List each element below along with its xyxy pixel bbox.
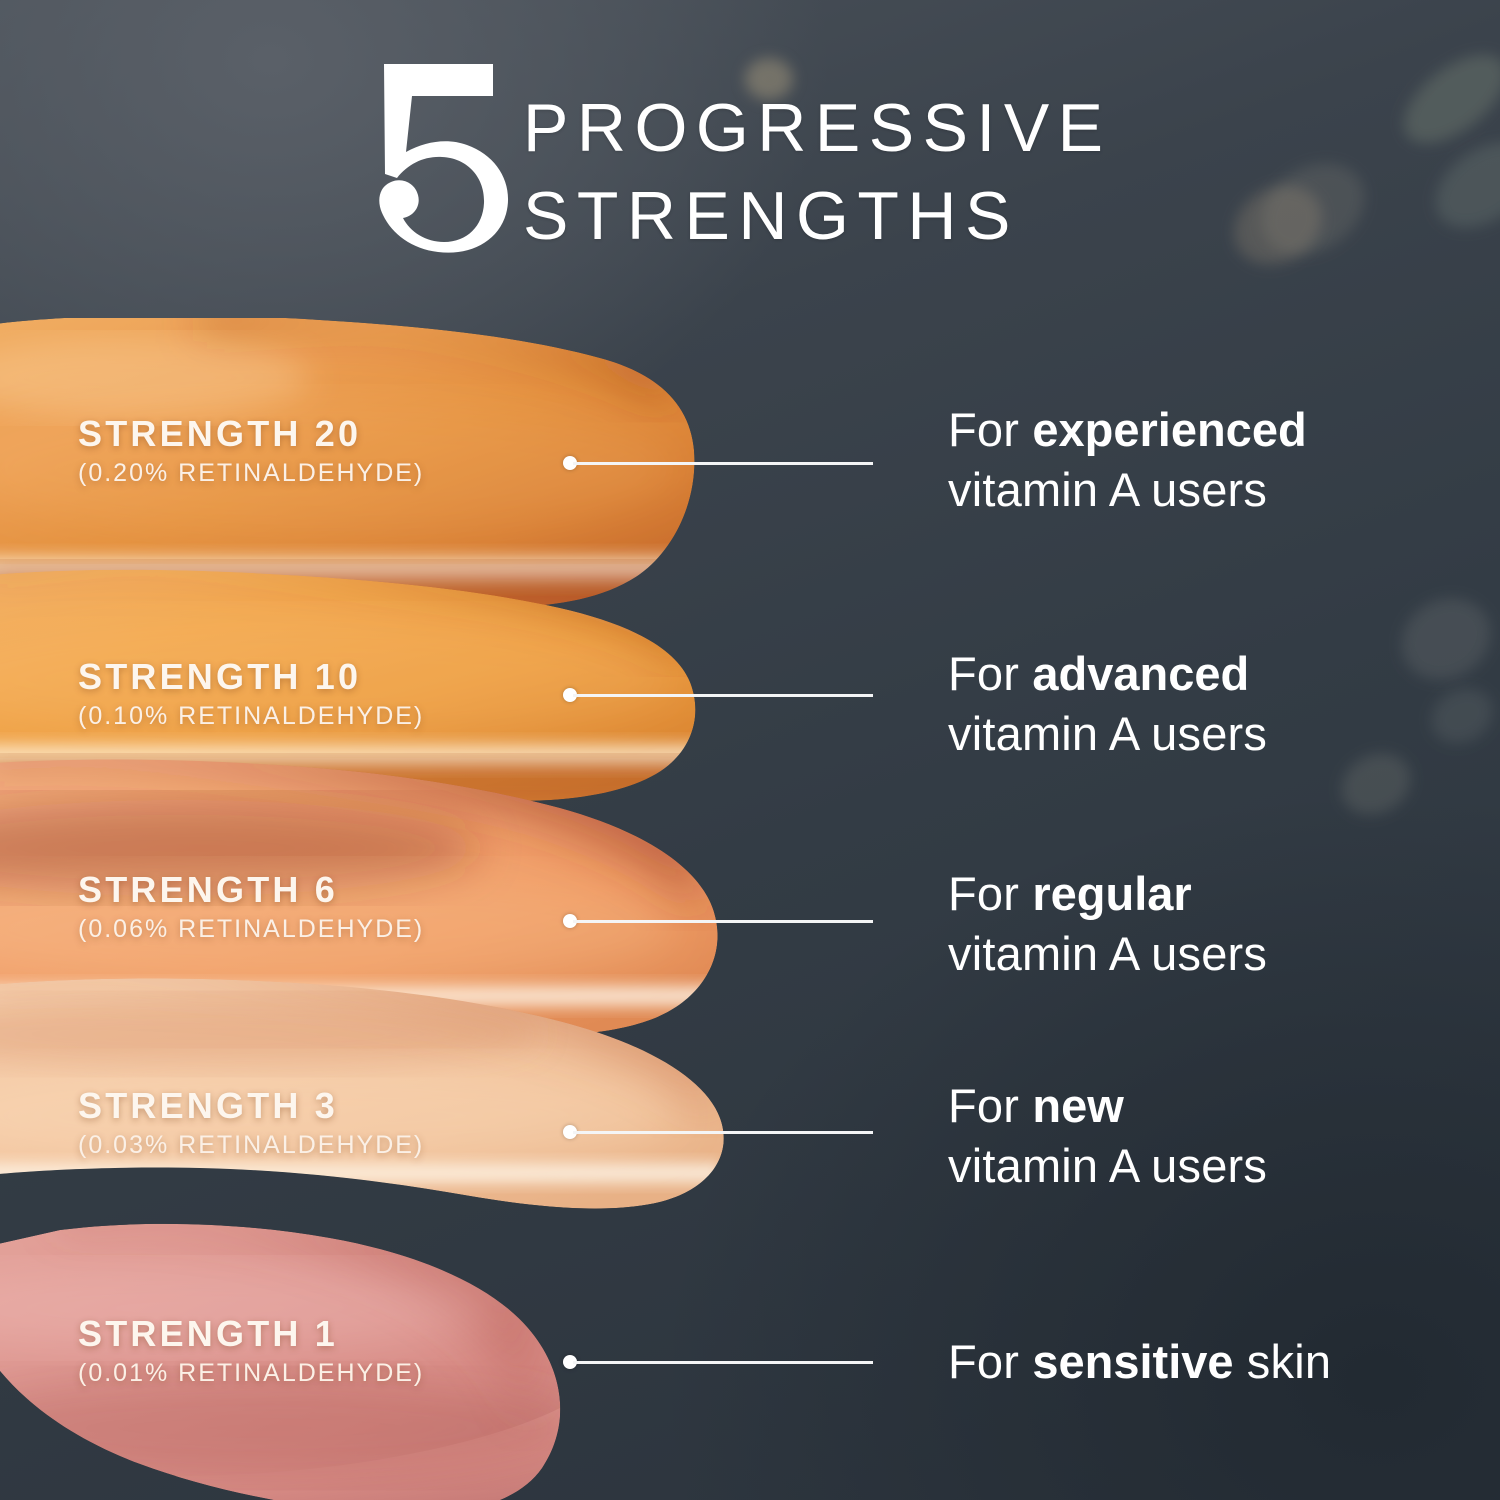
- description-strength-6: For regular vitamin A users: [948, 864, 1267, 984]
- page-title: PROGRESSIVE STRENGTHS: [523, 84, 1112, 260]
- desc-emphasis: sensitive: [1032, 1335, 1233, 1388]
- swatch-label-strength-1: STRENGTH 1 (0.01% RETINALDEHYDE): [78, 1312, 424, 1390]
- headline-numeral-5: [352, 56, 527, 256]
- strength-1-title: STRENGTH 1: [78, 1312, 424, 1356]
- product-infographic: PROGRESSIVE STRENGTHS: [0, 0, 1500, 1500]
- desc-emphasis: advanced: [1032, 647, 1249, 700]
- desc-prefix: For: [948, 403, 1032, 456]
- description-line-2-strength-10: vitamin A users: [948, 704, 1267, 764]
- strength-6-concentration: (0.06% RETINALDEHYDE): [78, 912, 424, 946]
- strength-10-concentration: (0.10% RETINALDEHYDE): [78, 699, 424, 733]
- description-line-1-strength-6: For regular: [948, 864, 1267, 924]
- strength-3-concentration: (0.03% RETINALDEHYDE): [78, 1128, 424, 1162]
- header: PROGRESSIVE STRENGTHS: [0, 0, 1500, 300]
- strength-6-title: STRENGTH 6: [78, 868, 424, 912]
- description-line-2-strength-6: vitamin A users: [948, 924, 1267, 984]
- description-strength-1: For sensitive skin: [948, 1332, 1331, 1392]
- bokeh-flare-6: [1387, 583, 1500, 695]
- description-line-1-strength-10: For advanced: [948, 644, 1267, 704]
- swatch-label-strength-3: STRENGTH 3 (0.03% RETINALDEHYDE): [78, 1084, 424, 1162]
- desc-suffix: skin: [1234, 1335, 1332, 1388]
- swatch-label-strength-10: STRENGTH 10 (0.10% RETINALDEHYDE): [78, 655, 424, 733]
- desc-emphasis: new: [1032, 1079, 1123, 1132]
- description-strength-3: For new vitamin A users: [948, 1076, 1267, 1196]
- title-line-1: PROGRESSIVE: [523, 84, 1112, 172]
- desc-prefix: For: [948, 647, 1032, 700]
- strength-20-concentration: (0.20% RETINALDEHYDE): [78, 456, 424, 490]
- description-line-2-strength-20: vitamin A users: [948, 460, 1307, 520]
- desc-emphasis: regular: [1032, 867, 1191, 920]
- strength-10-title: STRENGTH 10: [78, 655, 424, 699]
- swatch-label-strength-20: STRENGTH 20 (0.20% RETINALDEHYDE): [78, 412, 424, 490]
- desc-emphasis: experienced: [1032, 403, 1306, 456]
- description-line-2-strength-3: vitamin A users: [948, 1136, 1267, 1196]
- title-line-2: STRENGTHS: [523, 172, 1112, 260]
- description-line-1-strength-20: For experienced: [948, 400, 1307, 460]
- bokeh-flare-7: [1331, 741, 1422, 826]
- desc-prefix: For: [948, 1079, 1032, 1132]
- description-strength-20: For experienced vitamin A users: [948, 400, 1307, 520]
- strength-20-title: STRENGTH 20: [78, 412, 424, 456]
- description-strength-10: For advanced vitamin A users: [948, 644, 1267, 764]
- desc-prefix: For: [948, 1335, 1032, 1388]
- swatch-label-strength-6: STRENGTH 6 (0.06% RETINALDEHYDE): [78, 868, 424, 946]
- description-line-1-strength-1: For sensitive skin: [948, 1332, 1331, 1392]
- strength-3-title: STRENGTH 3: [78, 1084, 424, 1128]
- desc-prefix: For: [948, 867, 1032, 920]
- bokeh-flare-8: [1422, 678, 1500, 754]
- strength-1-concentration: (0.01% RETINALDEHYDE): [78, 1356, 424, 1390]
- description-line-1-strength-3: For new: [948, 1076, 1267, 1136]
